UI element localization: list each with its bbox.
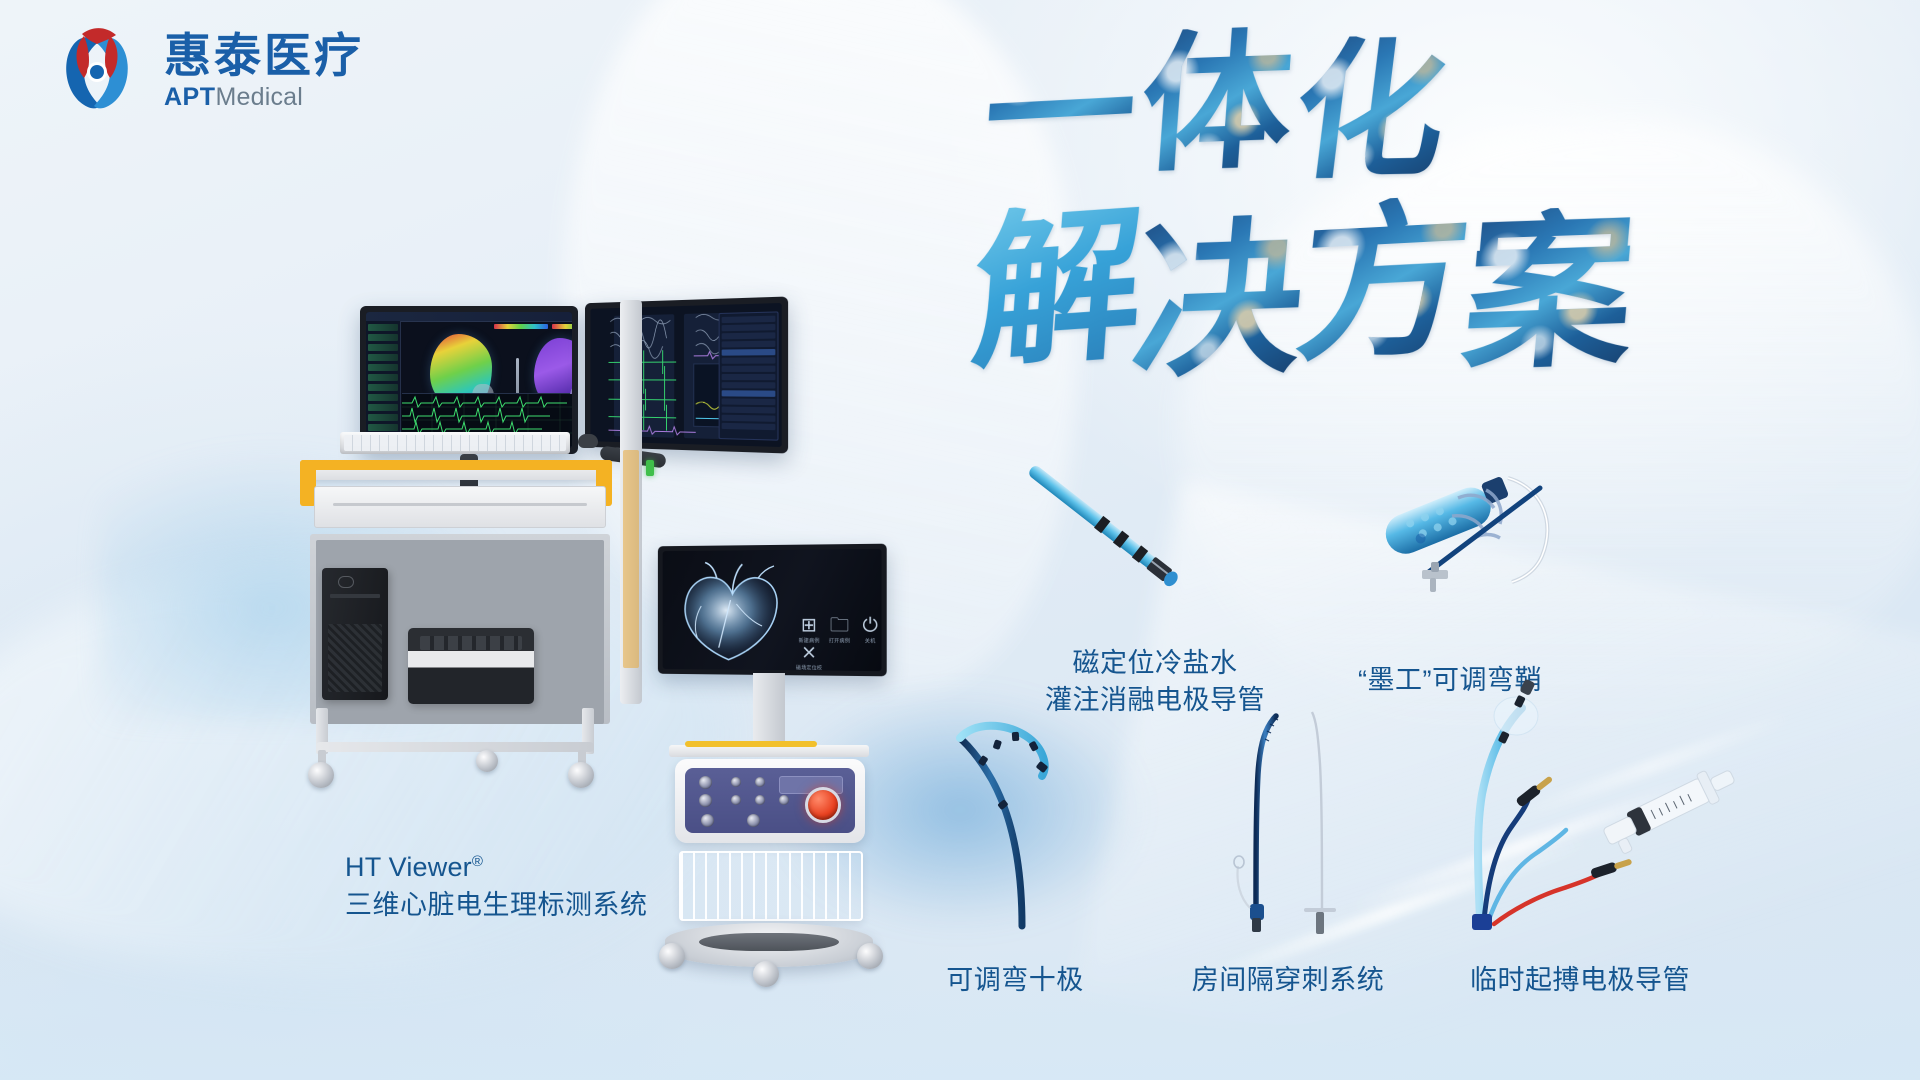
touch-console-screen[interactable]: ⊞ 新建病例 🗀 打开病例 ⏻ 关机 ⨯ 磁场定位校准: [658, 544, 887, 677]
new-case-glyph: ⊞: [796, 616, 822, 636]
headline-char: 化: [1286, 35, 1455, 188]
open-case-icon[interactable]: 🗀 打开病例: [826, 616, 852, 644]
glowing-blue-heart: [672, 560, 790, 665]
power-icon[interactable]: ⏻ 关机: [857, 616, 882, 645]
caster-wheel: [659, 943, 685, 969]
logo-chinese-name: 惠泰医疗: [164, 31, 364, 82]
headline-char: 案: [1458, 205, 1641, 379]
logo-apt: APT: [164, 83, 216, 111]
keyboard-tray[interactable]: [340, 432, 570, 454]
caster-wheel: [568, 762, 594, 788]
cart-drawer[interactable]: [314, 486, 606, 528]
channel-amplitude-list: [719, 311, 779, 440]
steerable-decapolar-catheter-label: 可调弯十极: [946, 962, 1084, 999]
cart-body: [300, 450, 700, 820]
new-case-icon[interactable]: ⊞ 新建病例: [796, 616, 822, 644]
workstation-pc: [322, 568, 388, 700]
logo-medical: Medical: [216, 83, 304, 111]
accessory-basket: [679, 851, 863, 921]
system-name-cn: 三维心脏电生理标测系统: [345, 886, 648, 924]
label-line: 可调弯十极: [946, 962, 1084, 999]
mogong-steerable-sheath-image: [1390, 430, 1670, 630]
headline-line-1: 一 体 化: [985, 40, 1445, 190]
system-name-text: HT Viewer: [345, 852, 472, 882]
ht-viewer-caption: HT Viewer® 三维心脏电生理标测系统: [345, 848, 648, 925]
apt-medical-double-ring-logo: [48, 22, 146, 120]
mapping-monitor-screen: [366, 312, 572, 448]
caster-wheel: [476, 750, 498, 772]
steerable-decapolar-catheter-image: [930, 700, 1130, 930]
power-glyph: ⏻: [857, 616, 882, 636]
connector-panel[interactable]: [675, 759, 865, 843]
cart-side-post: [620, 300, 642, 704]
power-label: 关机: [857, 637, 882, 644]
transseptal-puncture-system-label: 房间隔穿刺系统: [1192, 962, 1385, 999]
laser-printer: [408, 628, 534, 704]
mapping-calibration-glyph: ⨯: [796, 643, 822, 663]
system-name-en: HT Viewer®: [345, 848, 648, 886]
mapping-calibration-icon[interactable]: ⨯ 磁场定位校准: [796, 643, 822, 671]
label-line: 房间隔穿刺系统: [1192, 962, 1385, 999]
headline-calligraphy: 一 体 化 解 决 方 案: [985, 40, 1685, 370]
headline-char: 一: [979, 36, 1140, 194]
console-post: [753, 673, 785, 751]
yellow-handle-bar: [300, 460, 612, 470]
ep-recording-monitor[interactable]: [585, 296, 788, 453]
cart-base-bar: [316, 742, 594, 752]
power-led: [646, 460, 654, 476]
transseptal-puncture-system-image: [1230, 690, 1410, 940]
open-case-glyph: 🗀: [826, 616, 852, 636]
mouse[interactable]: [578, 434, 598, 448]
trademark-symbol: ®: [472, 853, 483, 870]
generator-cart: ⊞ 新建病例 🗀 打开病例 ⏻ 关机 ⨯ 磁场定位校准: [645, 545, 915, 1035]
caster-wheel: [857, 943, 883, 969]
headline-line-2: 解 决 方 案: [975, 190, 1635, 358]
headline-char: 解: [967, 198, 1148, 377]
generator-yellow-trim: [685, 741, 817, 747]
headline-char: 决: [1127, 213, 1310, 387]
label-line: 磁定位冷盐水: [1045, 645, 1265, 682]
caster-wheel: [753, 961, 779, 987]
headline-char: 体: [1136, 25, 1297, 180]
open-case-label: 打开病例: [826, 637, 852, 644]
logo-english-name: APTMedical: [164, 84, 364, 112]
caster-wheel: [308, 762, 334, 788]
bottom-fade: [0, 940, 1920, 1080]
irrigated-ablation-catheter-image: [1000, 440, 1220, 620]
label-line: 临时起搏电极导管: [1470, 962, 1690, 999]
brand-logo[interactable]: 惠泰医疗 APTMedical: [48, 22, 364, 120]
emergency-stop-button[interactable]: [805, 787, 841, 823]
headline-char: 方: [1291, 194, 1478, 371]
temporary-pacing-catheter-image: [1460, 670, 1760, 930]
marketing-banner: 惠泰医疗 APTMedical 一 体 化 解 决 方 案: [0, 0, 1920, 1080]
temporary-pacing-catheter-label: 临时起搏电极导管: [1470, 962, 1690, 999]
mapping-calibration-label: 磁场定位校准: [796, 664, 822, 671]
